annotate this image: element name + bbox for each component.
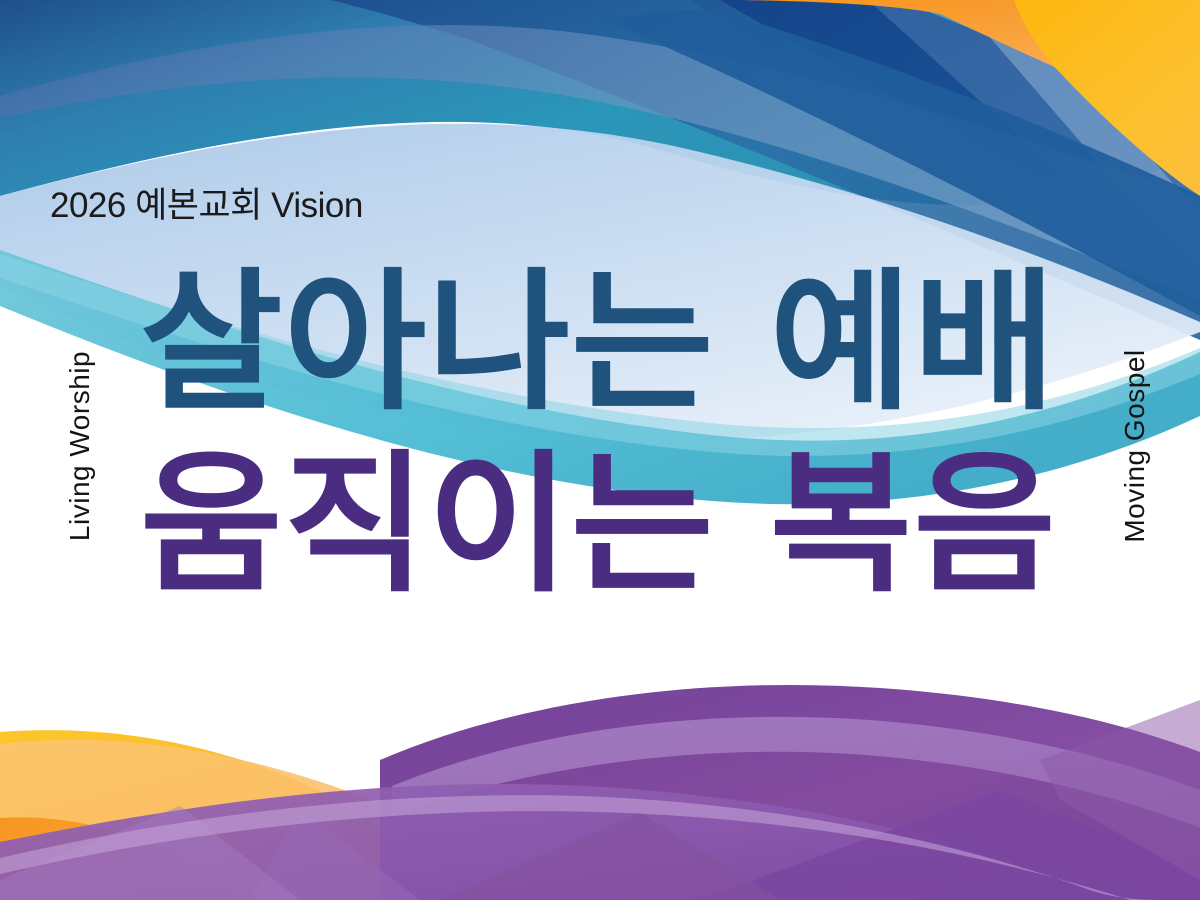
headline-line-moving-gospel: 움직이는 복음 [140, 434, 1089, 616]
side-caption-right-moving-gospel: Moving Gospel [1121, 321, 1149, 571]
headline-line-living-worship: 살아나는 예배 [140, 252, 1089, 434]
poster-eyebrow-title: 2026 예본교회 Vision [50, 188, 363, 223]
vision-poster: 2026 예본교회 Vision 살아나는 예배 움직이는 복음 Living … [0, 0, 1200, 900]
poster-headline: 살아나는 예배 움직이는 복음 [140, 252, 1070, 616]
side-caption-left-living-worship: Living Worship [66, 321, 94, 571]
